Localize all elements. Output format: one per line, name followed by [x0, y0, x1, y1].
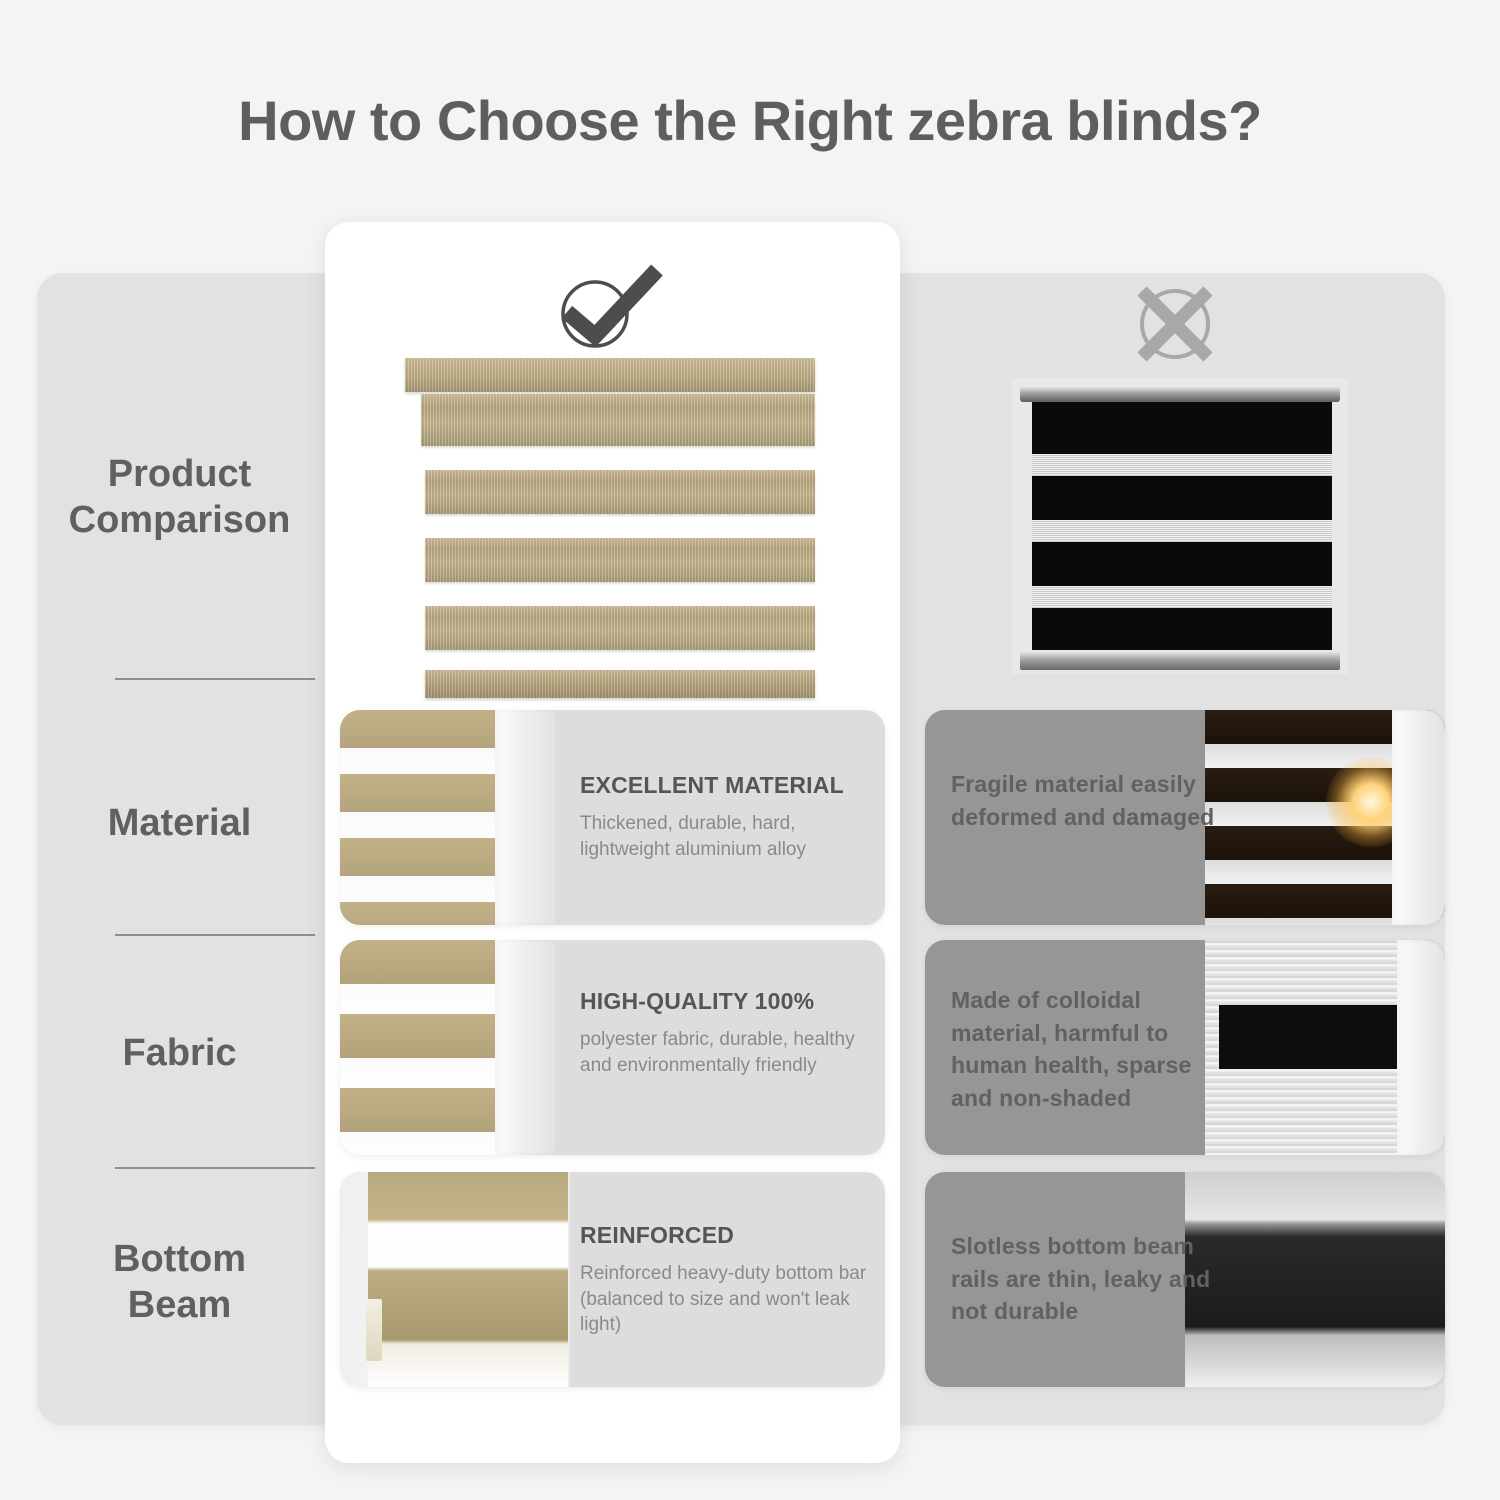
card-text-fragile-material: Fragile material easily deformed and dam…: [951, 710, 1215, 925]
bad-card-bottom-beam: Slotless bottom beam rails are thin, lea…: [925, 1172, 1445, 1387]
card-text-high-quality: HIGH-QUALITY 100% polyester fabric, dura…: [580, 940, 867, 1155]
bad-hero-product-image: [1012, 378, 1348, 674]
card-body: polyester fabric, durable, healthy and e…: [580, 1027, 867, 1078]
card-heading: Slotless bottom beam rails are thin, lea…: [951, 1230, 1215, 1328]
card-heading: Made of colloidal material, harmful to h…: [951, 984, 1215, 1115]
card-body: Thickened, durable, hard, lightweight al…: [580, 811, 867, 862]
good-card-bottom-beam: REINFORCED Reinforced heavy-duty bottom …: [340, 1172, 885, 1387]
good-card-fabric: HIGH-QUALITY 100% polyester fabric, dura…: [340, 940, 885, 1155]
card-heading: Fragile material easily deformed and dam…: [951, 768, 1215, 833]
row-label-bottom-beam: Bottom Beam: [37, 1236, 322, 1329]
bad-card-fabric: Made of colloidal material, harmful to h…: [925, 940, 1445, 1155]
bad-blind-body: [1032, 402, 1332, 650]
card-photo-slotless-bottom-beam: [1185, 1172, 1445, 1387]
good-slat: [421, 394, 815, 446]
row-label-material: Material: [37, 800, 322, 846]
card-text-excellent-material: EXCELLENT MATERIAL Thickened, durable, h…: [580, 710, 867, 925]
bad-headrail: [1020, 386, 1340, 402]
card-heading: HIGH-QUALITY 100%: [580, 988, 867, 1015]
good-slat: [425, 538, 815, 582]
check-circle-icon: [545, 262, 675, 352]
bottom-bar-end-cap: [366, 1299, 382, 1361]
good-bottom-bar: [425, 670, 815, 698]
card-text-slotless-bottom-beam: Slotless bottom beam rails are thin, lea…: [951, 1172, 1215, 1387]
bad-sheer-band: [1032, 520, 1332, 542]
card-photo-excellent-material: [340, 710, 555, 925]
bad-sheer-band: [1032, 454, 1332, 476]
page-title: How to Choose the Right zebra blinds?: [0, 88, 1500, 153]
card-text-colloidal-material: Made of colloidal material, harmful to h…: [951, 940, 1215, 1155]
row-label-fabric: Fabric: [37, 1030, 322, 1076]
row-label-column: Product Comparison Material Fabric Botto…: [37, 273, 322, 1425]
card-photo-colloidal-material: [1205, 940, 1445, 1155]
row-divider-1: [115, 678, 315, 680]
row-divider-2: [115, 934, 315, 936]
good-headrail: [405, 358, 815, 392]
card-photo-high-quality: [340, 940, 555, 1155]
cross-circle-icon: [1120, 278, 1230, 370]
good-slat: [425, 606, 815, 650]
row-label-product-comparison: Product Comparison: [37, 451, 322, 544]
card-photo-reinforced: [340, 1172, 570, 1387]
card-heading: EXCELLENT MATERIAL: [580, 772, 867, 799]
card-photo-fragile-material: [1205, 710, 1445, 925]
bad-sheer-band: [1032, 586, 1332, 608]
bad-card-material: Fragile material easily deformed and dam…: [925, 710, 1445, 925]
card-body: Reinforced heavy-duty bottom bar (balanc…: [580, 1261, 867, 1338]
card-text-reinforced: REINFORCED Reinforced heavy-duty bottom …: [580, 1172, 867, 1387]
good-hero-product-image: [405, 358, 815, 698]
good-card-material: EXCELLENT MATERIAL Thickened, durable, h…: [340, 710, 885, 925]
card-heading: REINFORCED: [580, 1222, 867, 1249]
row-divider-3: [115, 1167, 315, 1169]
bad-bottom-rail: [1020, 652, 1340, 670]
good-slat: [425, 470, 815, 514]
